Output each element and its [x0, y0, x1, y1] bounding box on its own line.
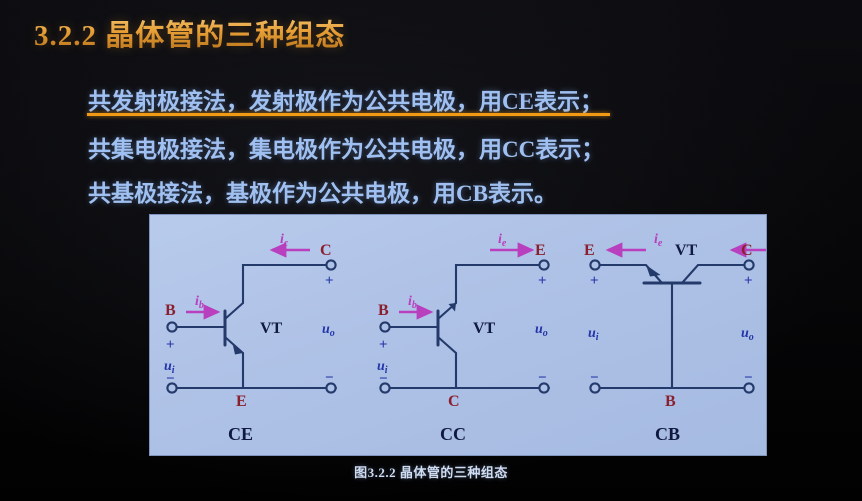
circuit-common-emitter: [167, 260, 336, 392]
current-label-ib-ce: ib: [195, 294, 204, 311]
circuit-caption-cc: CC: [440, 424, 466, 444]
terminal-label-c-ce: C: [320, 242, 332, 259]
polarity-plus-out-ce: +: [325, 273, 334, 289]
body-line-1: 共发射极接法，发射极作为公共电极，用CE表示；: [88, 82, 603, 116]
current-label-ic-ce: ic: [280, 232, 289, 249]
terminal-label-e-cb: E: [584, 242, 595, 259]
terminal-label-b-cb: B: [665, 393, 676, 410]
polarity-plus-out-cc: +: [538, 273, 547, 289]
voltage-label-uo-cb: uo: [741, 326, 754, 343]
current-label-ie-cc: ie: [498, 232, 507, 249]
body-line-3: 共基极接法，基极作为公共电极，用CB表示。: [88, 174, 557, 208]
circuit-caption-cb: CB: [655, 424, 680, 444]
body-line-2: 共集电极接法，集电极作为公共电极，用CC表示；: [88, 130, 604, 164]
polarity-minus-out-cc: −: [538, 370, 547, 386]
figure-caption: 图3.2.2 晶体管的三种组态: [0, 462, 862, 481]
polarity-minus-in-cb: −: [590, 370, 599, 386]
terminal-label-e-ce: E: [236, 393, 247, 410]
polarity-minus-out-cb: −: [744, 370, 753, 386]
current-label-ib-cc: ib: [408, 294, 417, 311]
circuit-common-base: [590, 260, 753, 392]
polarity-minus-out-ce: −: [325, 370, 334, 386]
polarity-minus-in-ce: −: [166, 371, 175, 387]
terminal-label-c-cb: C: [741, 242, 753, 259]
page-title: 3.2.2 晶体管的三种组态: [34, 12, 345, 54]
circuit-common-collector: [380, 260, 549, 392]
device-label-vt-cc: VT: [473, 320, 496, 337]
current-label-ie-cb: ie: [654, 232, 663, 249]
terminal-label-b-cc: B: [378, 302, 389, 319]
polarity-plus-in-cb: +: [590, 273, 599, 289]
voltage-label-ui-cb: ui: [588, 326, 599, 343]
voltage-label-uo-ce: uo: [322, 322, 335, 339]
polarity-minus-in-cc: −: [379, 371, 388, 387]
terminal-label-e-cc: E: [535, 242, 546, 259]
device-label-vt-cb: VT: [675, 242, 698, 259]
terminal-label-c-cc: C: [448, 393, 460, 410]
circuit-caption-ce: CE: [228, 424, 253, 444]
device-label-vt-ce: VT: [260, 320, 283, 337]
slide-page: 3.2.2 晶体管的三种组态 共发射极接法，发射极作为公共电极，用CE表示； 共…: [0, 0, 862, 501]
figure-panel: B ib C ic VT + ui − + uo − E CE B ib E i…: [150, 215, 766, 455]
terminal-label-b-ce: B: [165, 302, 176, 319]
voltage-label-uo-cc: uo: [535, 322, 548, 339]
polarity-plus-in-cc: +: [379, 337, 388, 353]
emphasis-underline: [87, 113, 610, 116]
polarity-plus-in-ce: +: [166, 337, 175, 353]
polarity-plus-out-cb: +: [744, 273, 753, 289]
